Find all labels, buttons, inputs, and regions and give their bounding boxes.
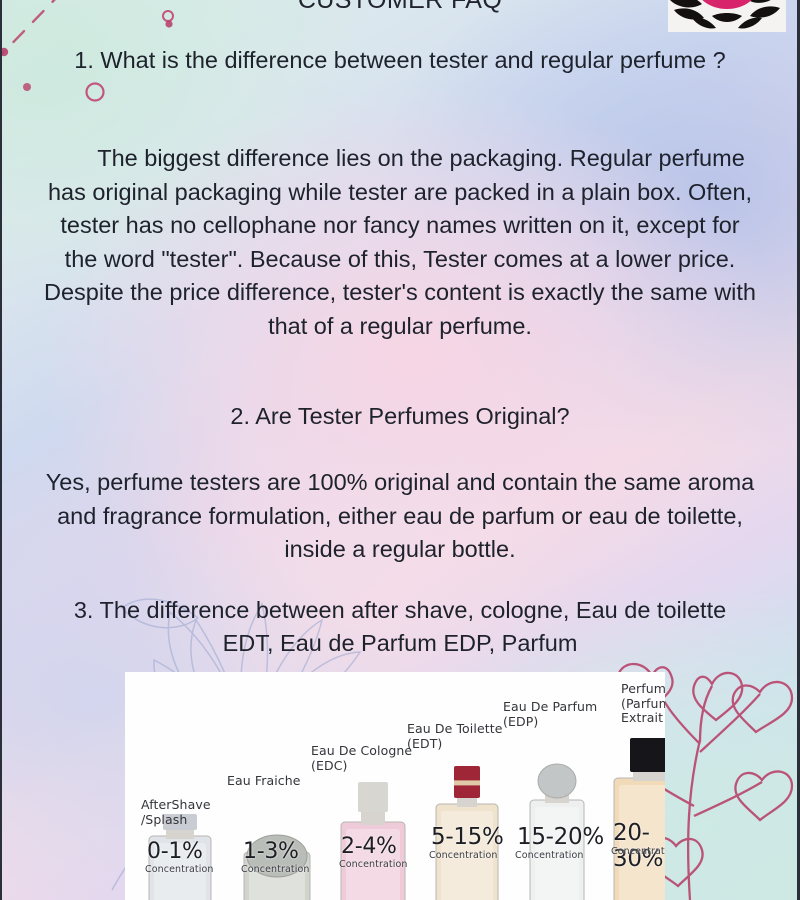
chart-unit-label-3: Concentration [339,859,408,870]
perfume-concentration-chart: AfterShave /Splash0-1%ConcentrationEau F… [125,672,665,900]
page-content: CUSTOMER FAQ [0,0,800,900]
chart-category-label-5: Eau De Parfum (EDP) [503,700,597,729]
page-border-left [0,0,2,900]
faq-question-3: 3. The difference between after shave, c… [0,594,800,660]
bottle-6 [614,738,665,900]
chart-value-label-2: 1-3% [243,839,299,864]
rose-floral-icon [668,0,786,32]
faq-question-2: 2. Are Tester Perfumes Original? [0,400,800,433]
chart-category-label-4: Eau De Toilette (EDT) [407,722,503,751]
chart-value-label-1: 0-1% [147,839,203,864]
chart-category-label-3: Eau De Cologne (EDC) [311,744,412,773]
chart-unit-label-4: Concentration [429,850,498,861]
chart-value-label-3: 2-4% [341,834,397,859]
chart-unit-label-1: Concentration [145,864,214,875]
chart-value-label-5: 15-20% [517,824,604,850]
faq-question-1: 1. What is the difference between tester… [0,44,800,77]
chart-value-label-4: 5-15% [431,824,504,850]
faq-answer-2: Yes, perfume testers are 100% original a… [0,466,800,567]
chart-unit-label-6: Concentration [611,846,665,857]
chart-category-label-2: Eau Fraiche [227,774,301,789]
chart-unit-label-5: Concentration [515,850,584,861]
faq-answer-1: The biggest difference lies on the packa… [0,142,800,343]
chart-unit-label-2: Concentration [241,864,310,875]
chart-category-label-1: AfterShave /Splash [141,798,211,827]
rose-floral-graphic [668,0,786,32]
chart-category-label-6: Perfume (Parfum) Extrait [621,682,665,726]
